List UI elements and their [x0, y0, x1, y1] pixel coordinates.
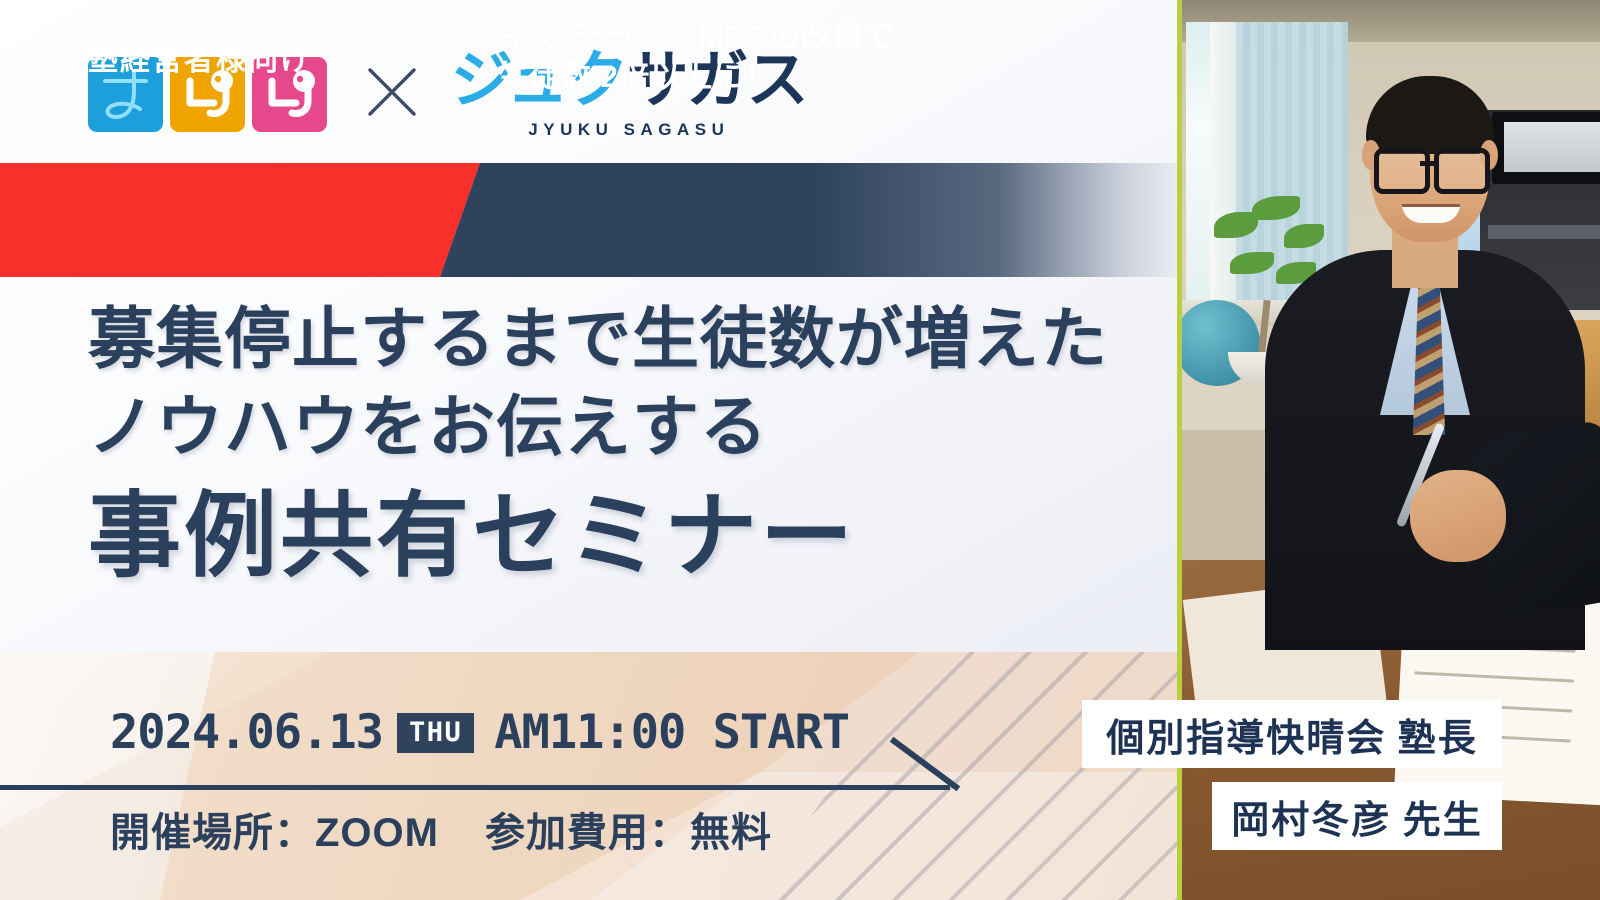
- event-date: 2024.06.13: [110, 705, 383, 760]
- ribbon-red-shape: [0, 163, 480, 277]
- photo-person-glasses-left: [1374, 148, 1430, 194]
- seminar-poster: ジュク サガス JYUKU SAGASU 塾経営者様向け HP、チラシ、MEOの…: [0, 0, 1600, 900]
- photo-person-hand: [1410, 470, 1506, 562]
- photo-person-glasses-bridge: [1420, 161, 1436, 166]
- benefit-line-2: 生徒数 2倍以上に！: [497, 57, 895, 97]
- day-of-week-badge: THU: [397, 713, 474, 753]
- event-venue: 開催場所：ZOOM: [110, 800, 439, 858]
- photo-curtain-white: [1210, 22, 1238, 322]
- photo-printer-glass: [1504, 122, 1600, 172]
- headline-title: 事例共有セミナー: [88, 481, 1148, 594]
- headline-line-1: 募集停止するまで生徒数が増えた: [88, 296, 1148, 384]
- ribbon-banner: [0, 163, 1180, 277]
- content-column: ジュク サガス JYUKU SAGASU 塾経営者様向け HP、チラシ、MEOの…: [0, 0, 1180, 900]
- event-meta-row: 開催場所：ZOOM 参加費用：無料: [110, 800, 772, 858]
- speaker-title-plate: 個別指導快晴会 塾長: [1082, 700, 1502, 768]
- event-fee: 参加費用：無料: [485, 800, 772, 858]
- jyuku-sagasu-romaji: JYUKU SAGASU: [528, 120, 729, 140]
- headline-block: 募集停止するまで生徒数が増えた ノウハウをお伝えする 事例共有セミナー: [88, 296, 1148, 594]
- event-date-row: 2024.06.13 THU AM11:00 START: [110, 705, 849, 760]
- audience-label: 塾経営者様向け: [88, 0, 312, 114]
- event-detail-band: [0, 652, 1180, 900]
- arrow-head-icon: [890, 737, 970, 802]
- event-time: AM11:00 START: [494, 705, 849, 760]
- speaker-name-plate: 岡村冬彦 先生: [1212, 782, 1502, 850]
- ribbon-navy-shape: [420, 163, 1180, 277]
- horizontal-rule: [0, 785, 950, 790]
- photo-person-glasses-right: [1434, 148, 1490, 194]
- benefit-label: HP、チラシ、MEOの改善で 生徒数 2倍以上に！: [497, 0, 895, 114]
- headline-line-2: ノウハウをお伝えする: [88, 384, 1148, 472]
- photo-printer-panel: [1488, 225, 1600, 239]
- cross-icon: [363, 63, 421, 126]
- benefit-line-1: HP、チラシ、MEOの改善で: [497, 17, 895, 57]
